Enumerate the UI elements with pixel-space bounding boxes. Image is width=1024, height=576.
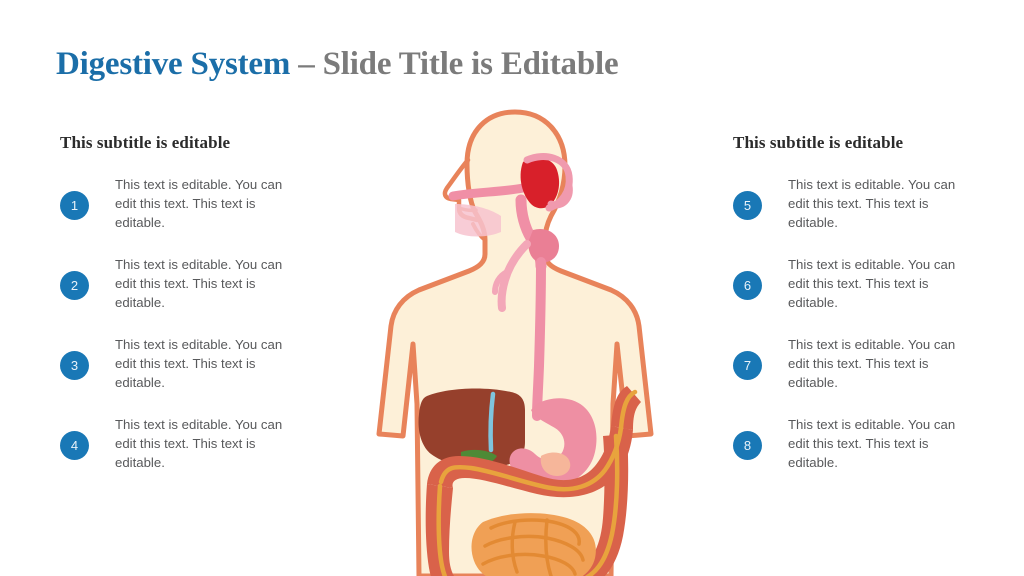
- bullet-text-5: This text is editable. You can edit this…: [788, 175, 970, 232]
- bullet-badge-2: 2: [60, 271, 89, 300]
- small-intestine-icon: [472, 513, 596, 576]
- bullet-badge-4: 4: [60, 431, 89, 460]
- list-item[interactable]: 6 This text is editable. You can edit th…: [733, 255, 1024, 312]
- bullet-text-3: This text is editable. You can edit this…: [115, 335, 297, 392]
- list-item[interactable]: 8 This text is editable. You can edit th…: [733, 415, 1024, 472]
- larynx-icon: [528, 229, 559, 262]
- list-item[interactable]: 3 This text is editable. You can edit th…: [60, 335, 360, 392]
- page-title-rest: – Slide Title is Editable: [290, 46, 618, 82]
- right-column-subtitle: This subtitle is editable: [733, 133, 1024, 153]
- bullet-badge-3: 3: [60, 351, 89, 380]
- bullet-badge-1: 1: [60, 191, 89, 220]
- list-item[interactable]: 1 This text is editable. You can edit th…: [60, 175, 360, 232]
- bullet-text-8: This text is editable. You can edit this…: [788, 415, 970, 472]
- bile-duct-icon: [491, 394, 493, 450]
- list-item[interactable]: 7 This text is editable. You can edit th…: [733, 335, 1024, 392]
- list-item[interactable]: 5 This text is editable. You can edit th…: [733, 175, 1024, 232]
- esophagus-icon: [537, 262, 541, 416]
- bullet-text-2: This text is editable. You can edit this…: [115, 255, 297, 312]
- bullet-text-4: This text is editable. You can edit this…: [115, 415, 297, 472]
- right-bullet-list: 5 This text is editable. You can edit th…: [733, 175, 1024, 472]
- bullet-badge-5: 5: [733, 191, 762, 220]
- list-item[interactable]: 2 This text is editable. You can edit th…: [60, 255, 360, 312]
- digestive-system-illustration: [355, 104, 675, 576]
- left-column-subtitle: This subtitle is editable: [60, 133, 360, 153]
- bullet-badge-6: 6: [733, 271, 762, 300]
- page-title-highlight: Digestive System: [56, 46, 290, 82]
- right-column: This subtitle is editable 5 This text is…: [733, 133, 1024, 495]
- list-item[interactable]: 4 This text is editable. You can edit th…: [60, 415, 360, 472]
- bullet-badge-8: 8: [733, 431, 762, 460]
- page-title: Digestive System – Slide Title is Editab…: [56, 46, 618, 83]
- bullet-badge-7: 7: [733, 351, 762, 380]
- left-column: This subtitle is editable 1 This text is…: [60, 133, 360, 495]
- bullet-text-7: This text is editable. You can edit this…: [788, 335, 970, 392]
- left-bullet-list: 1 This text is editable. You can edit th…: [60, 175, 360, 472]
- slide-canvas: Digestive System – Slide Title is Editab…: [0, 0, 1024, 576]
- bullet-text-6: This text is editable. You can edit this…: [788, 255, 970, 312]
- bullet-text-1: This text is editable. You can edit this…: [115, 175, 297, 232]
